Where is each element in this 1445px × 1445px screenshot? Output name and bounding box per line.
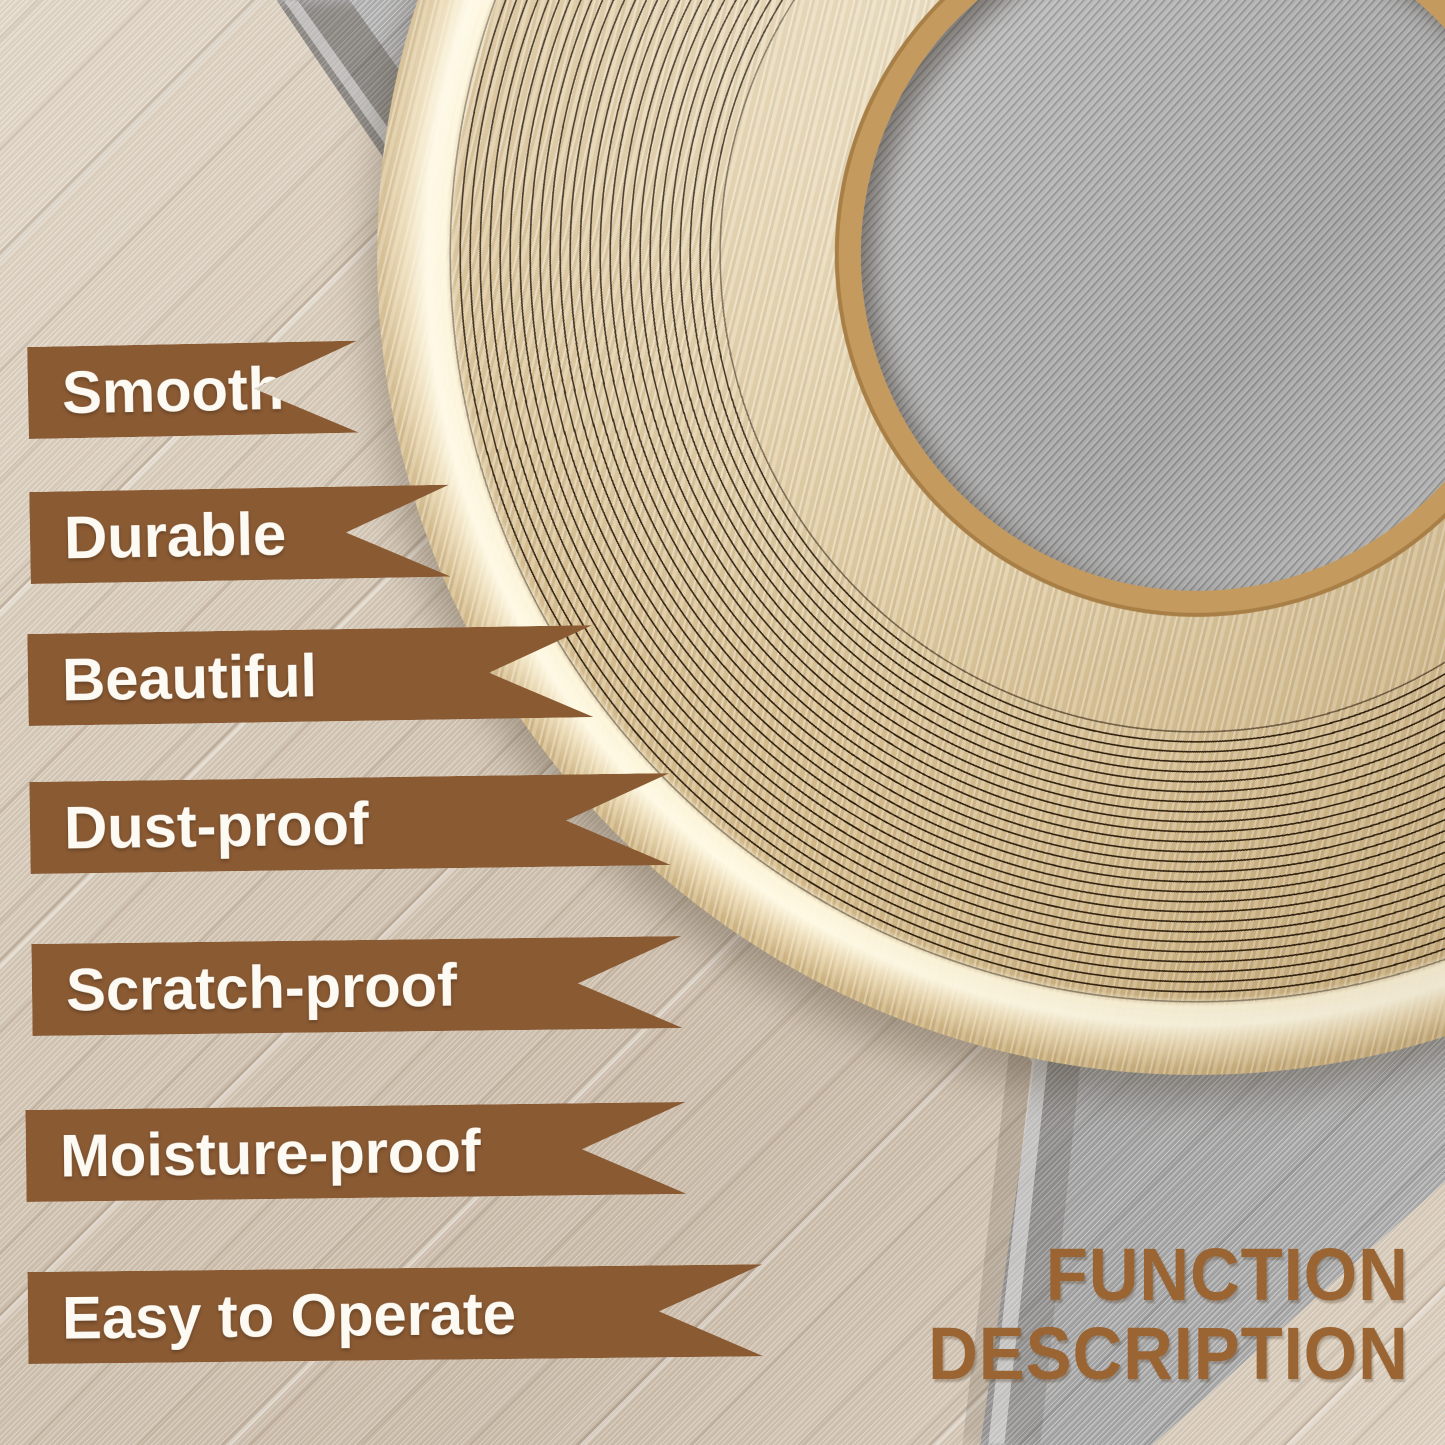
feature-banner-list: SmoothDurableBeautifulDust-proofScratch-… (0, 0, 1445, 1445)
feature-banner: Moisture-proof (25, 1102, 686, 1202)
feature-banner-label: Scratch-proof (66, 950, 458, 1024)
feature-banner: Smooth (27, 341, 359, 439)
feature-banner-label: Smooth (61, 354, 284, 427)
heading-line-2: DESCRIPTION (928, 1315, 1409, 1393)
feature-banner-label: Durable (63, 499, 286, 572)
feature-banner-label: Dust-proof (64, 789, 370, 862)
feature-banner: Beautiful (27, 625, 593, 726)
feature-banner: Scratch-proof (31, 936, 682, 1036)
feature-banner-label: Easy to Operate (62, 1278, 517, 1352)
product-feature-image: SmoothDurableBeautifulDust-proofScratch-… (0, 0, 1445, 1445)
feature-banner-label: Moisture-proof (60, 1116, 481, 1190)
heading-line-1: FUNCTION (928, 1236, 1409, 1314)
feature-banner-label: Beautiful (61, 641, 317, 714)
feature-banner: Easy to Operate (28, 1264, 764, 1364)
function-description-heading: FUNCTION DESCRIPTION (928, 1236, 1409, 1393)
feature-banner: Durable (29, 485, 451, 584)
feature-banner: Dust-proof (29, 773, 670, 874)
